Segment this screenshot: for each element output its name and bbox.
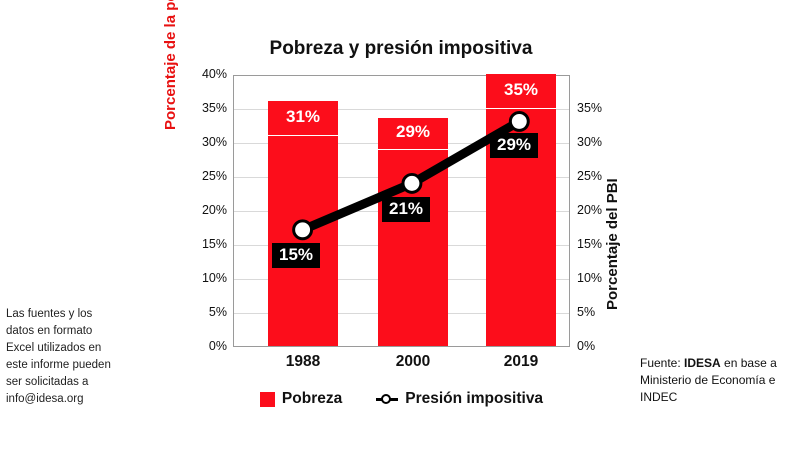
y-tick-left-20: 20%	[187, 203, 227, 217]
line-label-1988: 15%	[272, 243, 320, 268]
y-tick-left-35: 35%	[187, 101, 227, 115]
chart: Pobreza y presión impositiva Porcentaje …	[186, 20, 616, 440]
x-tick-1988: 1988	[263, 353, 343, 371]
plot-area: 0% 5% 10% 15% 20% 25% 30% 35% 40% 0% 5% …	[233, 75, 570, 347]
side-note-line-4: este informe pueden	[6, 357, 126, 374]
y-tick-right-30: 30%	[577, 135, 617, 149]
side-note-email[interactable]: info@idesa.org	[6, 391, 126, 408]
side-note-line-2: datos en formato	[6, 323, 126, 340]
line-label-2019: 29%	[490, 133, 538, 158]
plot-inner: 0% 5% 10% 15% 20% 25% 30% 35% 40% 0% 5% …	[234, 75, 569, 346]
y-tick-left-0: 0%	[187, 339, 227, 353]
chart-page: Las fuentes y los datos en formato Excel…	[0, 0, 800, 454]
y-tick-left-10: 10%	[187, 271, 227, 285]
legend-line-swatch-icon	[376, 393, 398, 405]
y-tick-right-15: 15%	[577, 237, 617, 251]
y-tick-left-25: 25%	[187, 169, 227, 183]
legend-label-pobreza: Pobreza	[282, 390, 342, 408]
side-note: Las fuentes y los datos en formato Excel…	[6, 306, 126, 408]
y-axis-title-left: Porcentaje de la población	[162, 0, 179, 130]
source-prefix: Fuente:	[640, 356, 684, 370]
y-tick-right-5: 5%	[577, 305, 617, 319]
line-label-2000: 21%	[382, 197, 430, 222]
legend-label-presion: Presión impositiva	[405, 390, 543, 408]
y-tick-left-15: 15%	[187, 237, 227, 251]
y-tick-left-5: 5%	[187, 305, 227, 319]
legend-item-presion-impositiva[interactable]: Presión impositiva	[376, 390, 543, 408]
y-tick-left-30: 30%	[187, 135, 227, 149]
y-tick-right-0: 0%	[577, 339, 617, 353]
chart-legend: Pobreza Presión impositiva	[233, 390, 570, 408]
side-note-line-3: Excel utilizados en	[6, 340, 126, 357]
source-note: Fuente: IDESA en base a Ministerio de Ec…	[640, 355, 798, 406]
x-tick-2019: 2019	[481, 353, 561, 371]
legend-item-pobreza[interactable]: Pobreza	[260, 390, 342, 408]
y-tick-right-20: 20%	[577, 203, 617, 217]
x-tick-2000: 2000	[373, 353, 453, 371]
y-tick-right-10: 10%	[577, 271, 617, 285]
source-org: IDESA	[684, 356, 721, 370]
chart-title: Pobreza y presión impositiva	[186, 38, 616, 60]
y-tick-right-25: 25%	[577, 169, 617, 183]
y-tick-left-40: 40%	[187, 67, 227, 81]
side-note-line-1: Las fuentes y los	[6, 306, 126, 323]
side-note-line-5: ser solicitadas a	[6, 374, 126, 391]
y-tick-right-35: 35%	[577, 101, 617, 115]
legend-bar-swatch-icon	[260, 392, 275, 407]
